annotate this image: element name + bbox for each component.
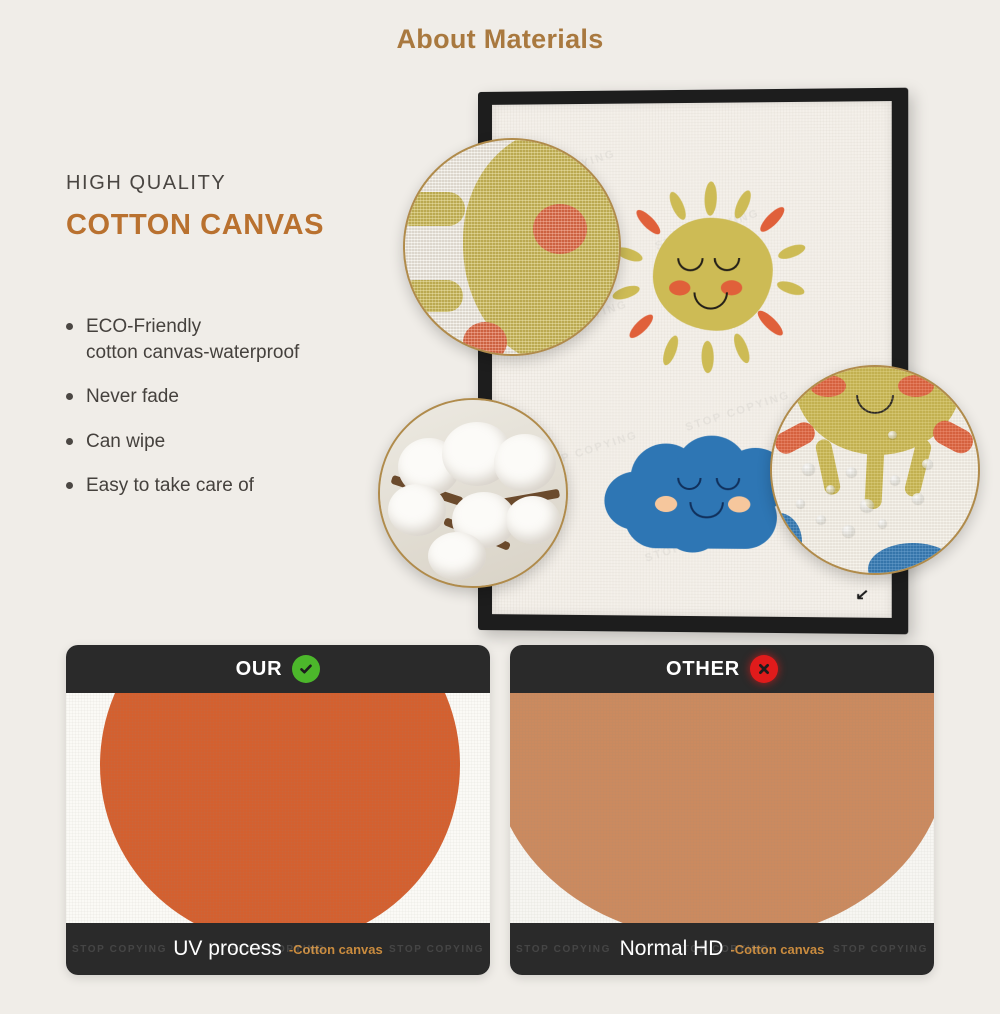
- card-caption-other: Normal HD: [620, 937, 724, 961]
- card-caption-sub-our: -Cotton canvas: [289, 942, 383, 957]
- sun-ray: [731, 332, 753, 365]
- sun-ray: [776, 242, 807, 262]
- feature-list: ECO-Friendly cotton canvas-waterproof Ne…: [66, 314, 396, 499]
- list-item: Never fade: [66, 384, 396, 410]
- eyebrow-text: HIGH QUALITY: [66, 172, 396, 195]
- sun-cheek-left: [669, 280, 690, 295]
- bullet-icon: [66, 323, 73, 330]
- feature-text-0: ECO-Friendly cotton canvas-waterproof: [86, 316, 299, 363]
- sun-ray: [626, 311, 656, 341]
- card-heading-our: OUR: [236, 658, 283, 681]
- card-footer-our: STOP COPYING STOP COPYING STOP COPYING U…: [66, 923, 490, 975]
- inset-cotton-boll-photo: [378, 398, 568, 588]
- comparison-card-our: OUR STOP COPYING STOP COPYING STOP COPYI…: [66, 645, 490, 975]
- comparison-section: OUR STOP COPYING STOP COPYING STOP COPYI…: [66, 645, 934, 975]
- left-copy-block: HIGH QUALITY COTTON CANVAS ECO-Friendly …: [66, 172, 396, 517]
- sun-illustration: [617, 181, 810, 373]
- card-footer-other: STOP COPYING STOP COPYING STOP COPYING N…: [510, 923, 934, 975]
- sun-ray: [633, 207, 663, 238]
- list-item: ECO-Friendly cotton canvas-waterproof: [66, 314, 396, 366]
- card-caption-our: UV process: [173, 937, 282, 961]
- infographic-page: About Materials HIGH QUALITY COTTON CANV…: [0, 0, 1000, 1014]
- watermark-text: STOP COPYING: [516, 944, 611, 955]
- sun-ray: [757, 204, 788, 235]
- comparison-card-other: OTHER STOP COPYING STOP COPYING STOP COP…: [510, 645, 934, 975]
- feature-text-1: Never fade: [86, 386, 179, 407]
- card-caption-sub-other: -Cotton canvas: [730, 942, 824, 957]
- inset-waterproof-droplets: [770, 365, 980, 575]
- bullet-icon: [66, 482, 73, 489]
- cloud-cheek-left: [655, 496, 677, 512]
- sun-ray: [666, 190, 689, 222]
- card-header-our: OUR: [66, 645, 490, 693]
- cotton-boll: [428, 532, 486, 580]
- cotton-boll: [494, 434, 556, 492]
- page-title: About Materials: [0, 24, 1000, 55]
- cotton-boll: [506, 496, 560, 544]
- sun-ray: [754, 307, 786, 338]
- cotton-boll: [388, 484, 446, 536]
- list-item: Easy to take care of: [66, 473, 396, 499]
- watermark-text: STOP COPYING: [72, 944, 167, 955]
- card-header-other: OTHER: [510, 645, 934, 693]
- watermark-text: STOP COPYING: [389, 944, 484, 955]
- sun-ray: [701, 341, 714, 373]
- artist-signature: ↙: [856, 585, 870, 603]
- sun-ray: [731, 188, 754, 220]
- weave-texture: [772, 367, 978, 573]
- feature-text-3: Easy to take care of: [86, 475, 254, 496]
- sun-ray: [775, 279, 806, 298]
- cross-icon: [750, 655, 778, 683]
- cloud-illustration: [604, 435, 793, 557]
- sun-face: [653, 217, 773, 330]
- cloud-cheek-right: [728, 496, 750, 512]
- card-heading-other: OTHER: [666, 658, 740, 681]
- list-item: Can wipe: [66, 429, 396, 455]
- feature-text-2: Can wipe: [86, 431, 165, 452]
- bullet-icon: [66, 393, 73, 400]
- bullet-icon: [66, 438, 73, 445]
- inset-canvas-weave-macro: [403, 138, 621, 356]
- check-icon: [292, 655, 320, 683]
- weave-texture: [405, 140, 619, 354]
- watermark-text: STOP COPYING: [833, 944, 928, 955]
- sun-ray: [660, 334, 681, 367]
- headline-text: COTTON CANVAS: [66, 209, 396, 242]
- sun-ray: [704, 181, 717, 216]
